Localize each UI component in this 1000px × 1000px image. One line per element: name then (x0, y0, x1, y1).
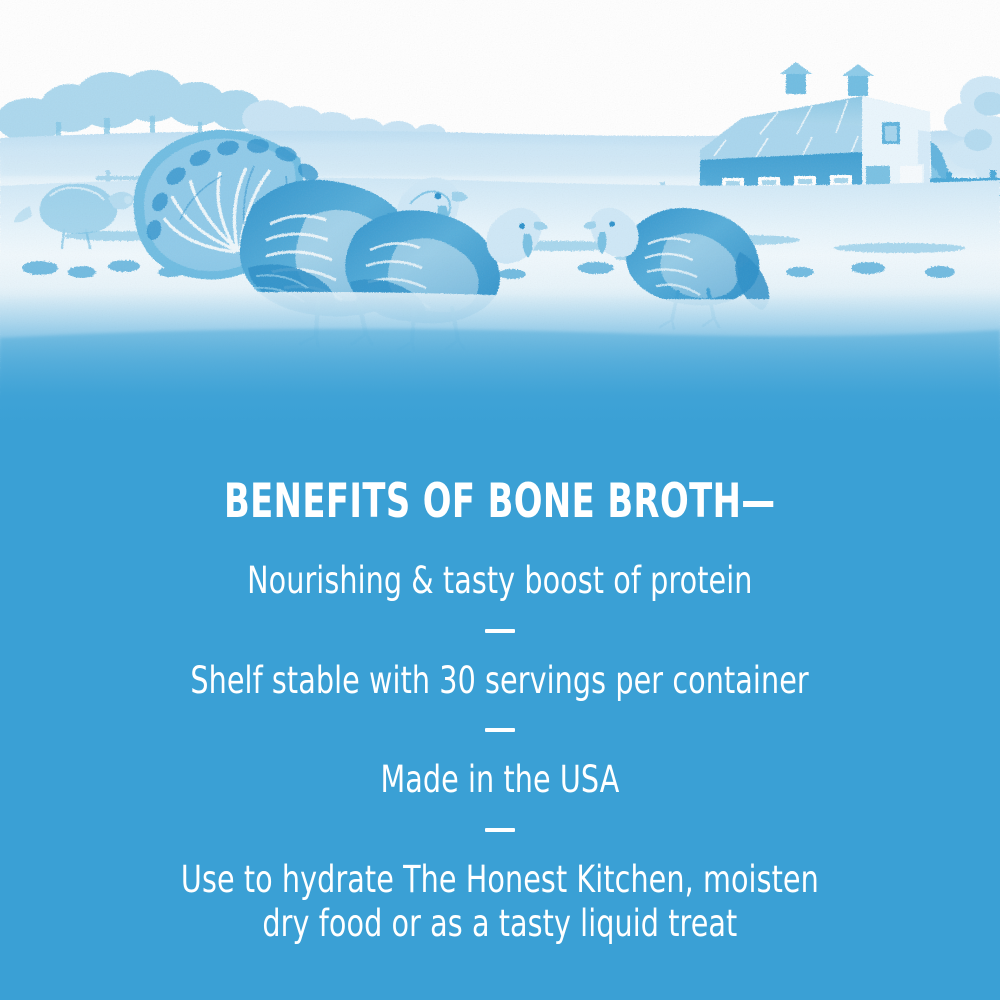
benefit-item-made-in-usa: Made in the USA (381, 758, 620, 802)
page-title: BENEFITS OF BONE BROTH— (224, 478, 776, 525)
benefit-item-protein: Nourishing & tasty boost of protein (247, 559, 752, 603)
turkeys-on-farm-illustration (0, 0, 1000, 420)
benefits-panel: BENEFITS OF BONE BROTH— Nourishing & tas… (0, 0, 1000, 1000)
benefit-separator (485, 728, 515, 732)
benefit-item-shelf-stable: Shelf stable with 30 servings per contai… (191, 659, 809, 703)
benefits-list: Nourishing & tasty boost of protein Shel… (0, 559, 1000, 945)
benefit-separator (485, 629, 515, 633)
benefit-item-usage: Use to hydrate The Honest Kitchen, moist… (181, 858, 819, 945)
paper-grain (0, 0, 1000, 420)
farm-scene-svg (0, 0, 1000, 420)
benefit-separator (485, 828, 515, 832)
benefits-content: BENEFITS OF BONE BROTH— Nourishing & tas… (0, 430, 1000, 1000)
